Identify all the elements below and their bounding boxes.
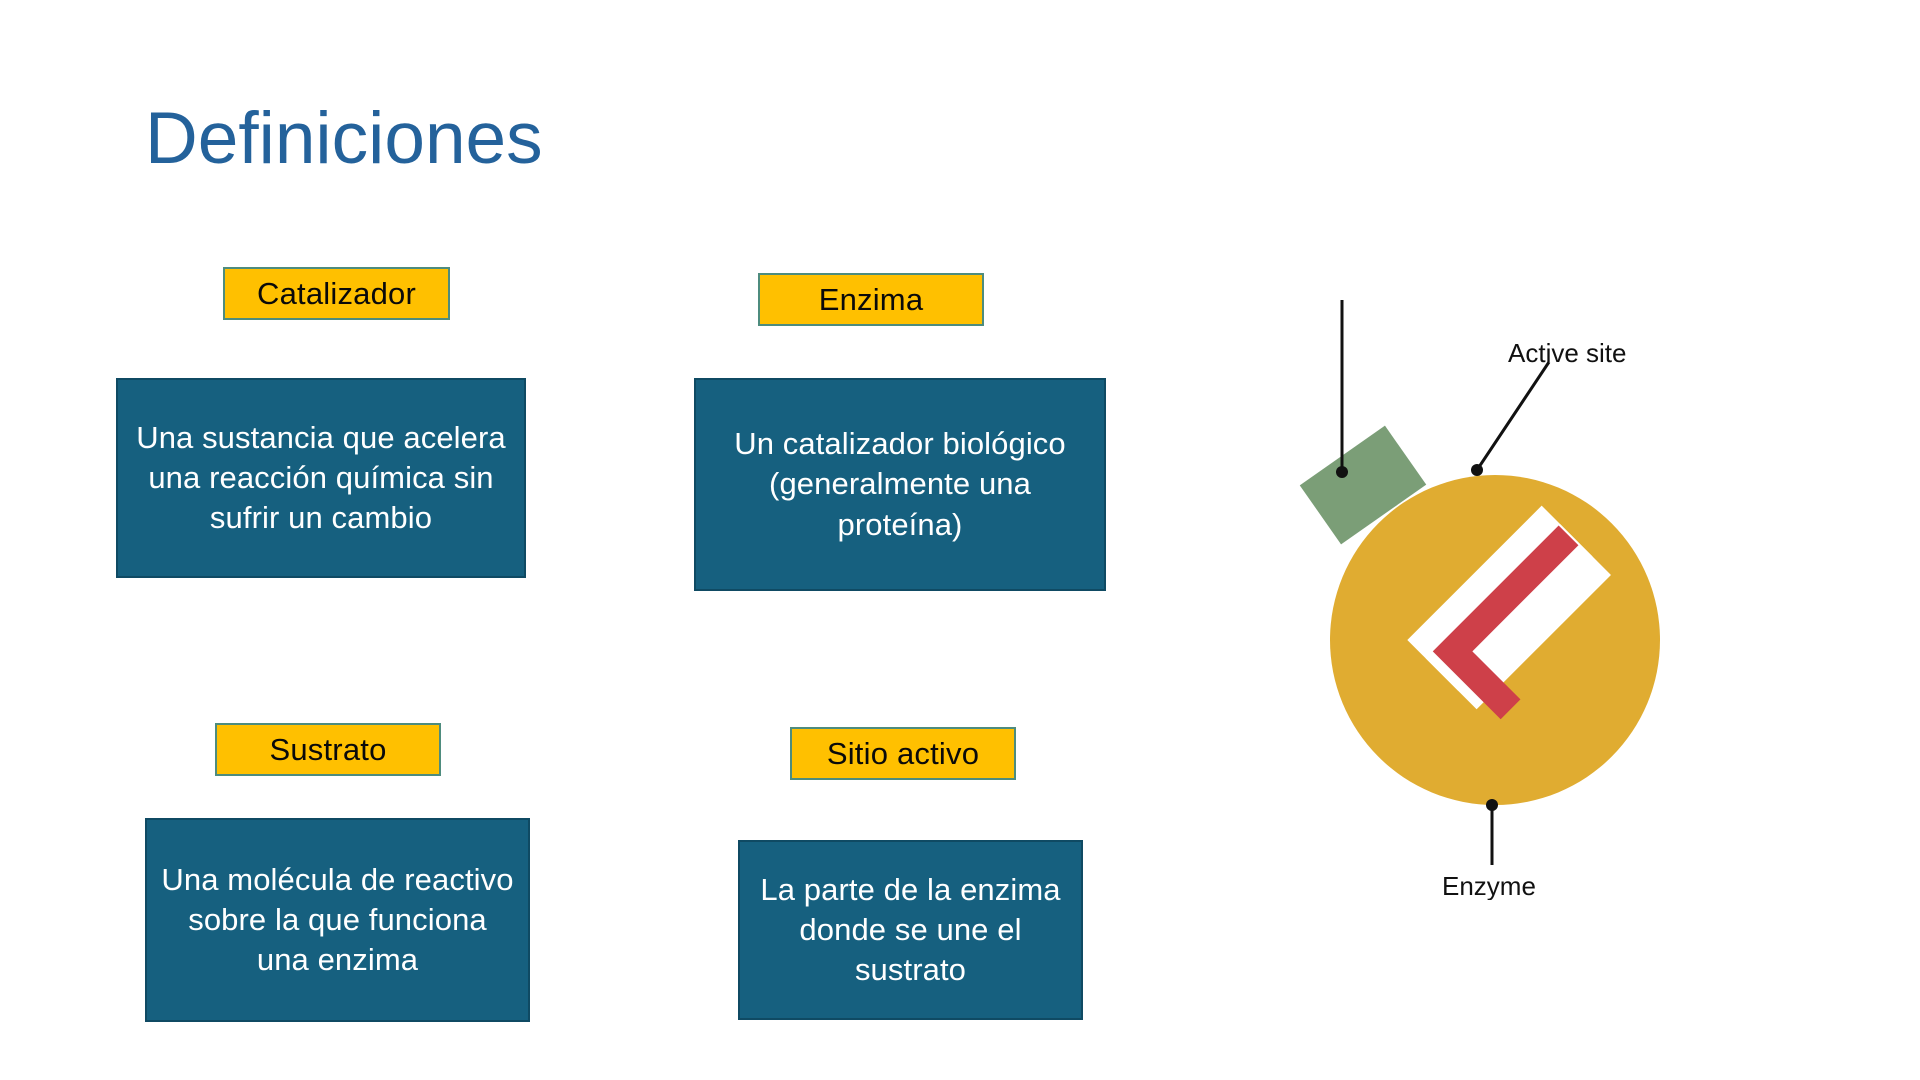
page-title: Definiciones xyxy=(145,102,543,175)
enzyme-body-shape xyxy=(1330,475,1660,805)
enzyme-diagram: Substrate Active site Enzyme xyxy=(1230,300,1730,900)
definition-card-catalizador: Una sustancia que acelera una reacción q… xyxy=(116,378,526,578)
term-chip-enzima[interactable]: Enzima xyxy=(758,273,984,326)
definition-card-text: Un catalizador biológico (generalmente u… xyxy=(710,424,1090,545)
enzyme-label: Enzyme xyxy=(1442,871,1536,900)
term-chip-sitio-activo[interactable]: Sitio activo xyxy=(790,727,1016,780)
definition-card-text: Una molécula de reactivo sobre la que fu… xyxy=(161,860,514,981)
definition-card-sitio-activo: La parte de la enzima donde se une el su… xyxy=(738,840,1083,1020)
term-chip-label: Sustrato xyxy=(269,732,386,768)
active-site-label: Active site xyxy=(1508,338,1627,368)
substrate-leader-line xyxy=(1336,300,1348,478)
definition-card-text: La parte de la enzima donde se une el su… xyxy=(754,870,1067,991)
term-chip-sustrato[interactable]: Sustrato xyxy=(215,723,441,776)
enzyme-leader-line xyxy=(1486,799,1498,865)
term-chip-label: Enzima xyxy=(819,282,924,318)
active-site-leader-line xyxy=(1471,362,1549,476)
definition-card-sustrato: Una molécula de reactivo sobre la que fu… xyxy=(145,818,530,1022)
term-chip-catalizador[interactable]: Catalizador xyxy=(223,267,450,320)
term-chip-label: Catalizador xyxy=(257,276,416,312)
definition-card-enzima: Un catalizador biológico (generalmente u… xyxy=(694,378,1106,591)
definition-card-text: Una sustancia que acelera una reacción q… xyxy=(132,418,510,539)
term-chip-label: Sitio activo xyxy=(827,736,979,772)
